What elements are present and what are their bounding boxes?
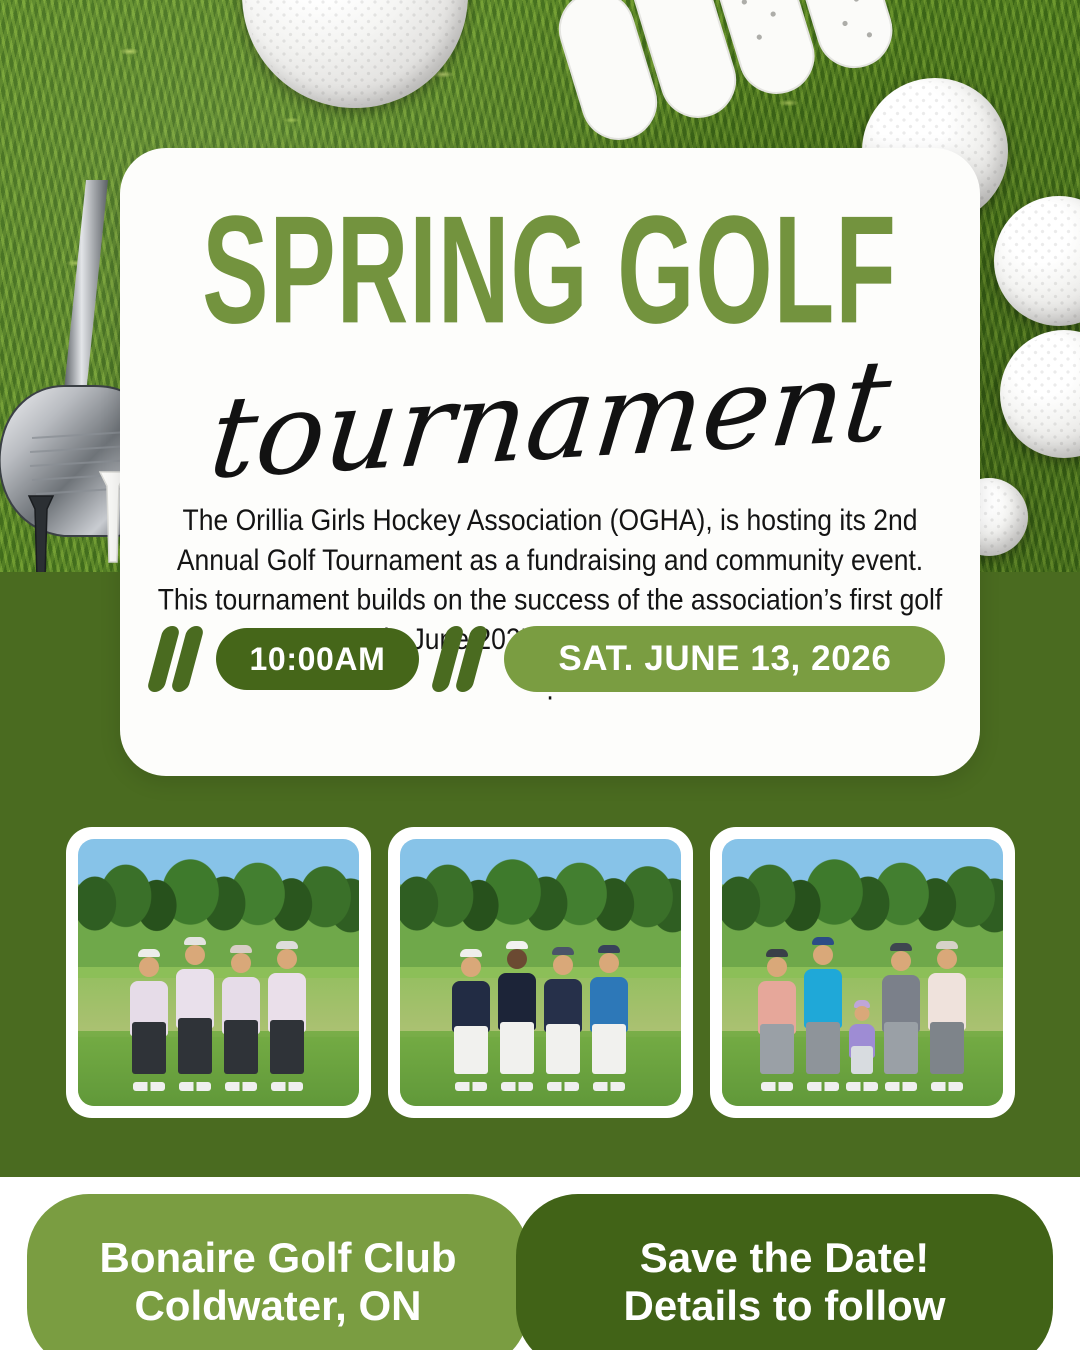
photo-card [66, 827, 371, 1118]
venue-banner: Bonaire Golf Club Coldwater, ON [27, 1194, 529, 1350]
golf-ball-icon [994, 196, 1080, 326]
event-time-badge: 10:00AM [216, 628, 420, 690]
event-meta-row: 10:00AM SAT. JUNE 13, 2026 [120, 626, 980, 692]
photo-card [388, 827, 693, 1118]
event-date-badge: SAT. JUNE 13, 2026 [504, 626, 945, 692]
photo-five-golfers-and-child-group [722, 839, 1003, 1106]
golf-tee-icon [26, 494, 56, 572]
save-the-date-headline: Save the Date! [640, 1234, 929, 1282]
double-slash-divider-icon [155, 626, 196, 692]
page-title: SPRING GOLF [203, 196, 898, 343]
venue-location: Coldwater, ON [134, 1282, 421, 1330]
double-slash-divider-icon [439, 626, 480, 692]
page-subtitle-script: tournament [205, 344, 895, 495]
save-the-date-banner: Save the Date! Details to follow [516, 1194, 1053, 1350]
photo-gallery [0, 827, 1080, 1118]
venue-name: Bonaire Golf Club [100, 1234, 457, 1282]
details-to-follow-text: Details to follow [623, 1282, 945, 1330]
photo-four-golfers-holding-signs [400, 839, 681, 1106]
main-info-card: SPRING GOLF tournament The Orillia Girls… [120, 148, 980, 776]
golf-ball-icon [242, 0, 468, 108]
photo-four-male-golfers-with-clubs [78, 839, 359, 1106]
bottom-bar: Bonaire Golf Club Coldwater, ON Save the… [0, 1177, 1080, 1350]
poster-root: SPRING GOLF tournament The Orillia Girls… [0, 0, 1080, 1350]
golf-ball-icon [1000, 330, 1080, 458]
photo-card [710, 827, 1015, 1118]
